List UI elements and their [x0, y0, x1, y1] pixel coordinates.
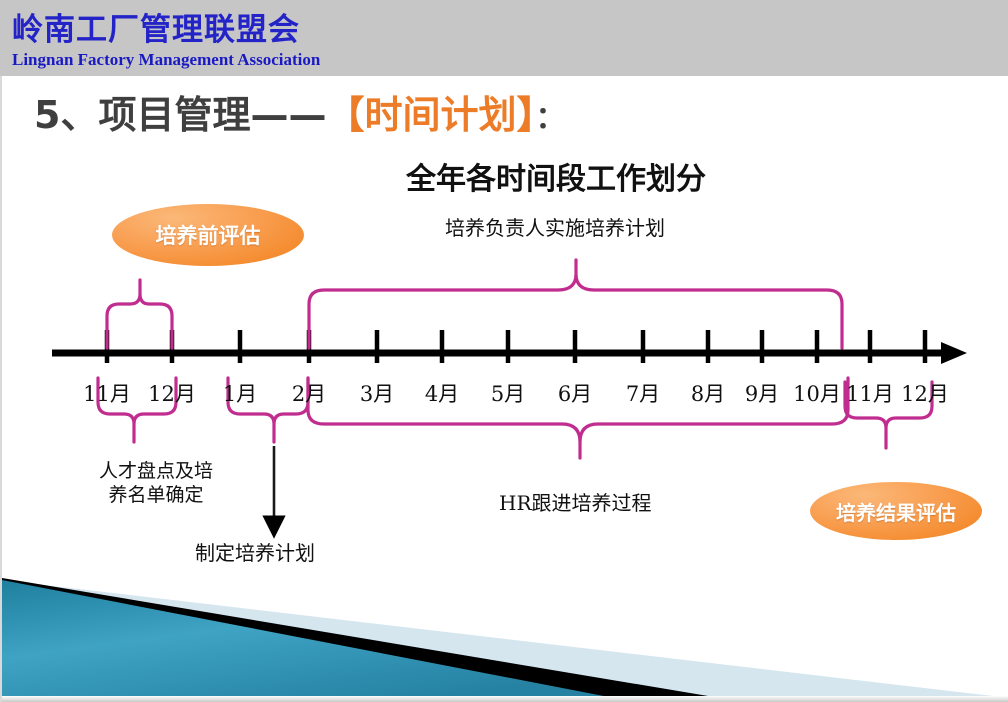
timeline-arrowhead — [941, 342, 967, 364]
label-talent-review-line1: 人才盘点及培 — [99, 460, 213, 482]
month-label-1: 12月 — [148, 378, 196, 408]
month-label-8: 7月 — [626, 378, 660, 408]
page-title: 5、项目管理——【时间计划】： — [34, 96, 565, 134]
callout-post-assessment: 培养结果评估 — [810, 482, 982, 540]
month-label-7: 6月 — [558, 378, 592, 408]
brace-owner-executes — [309, 260, 842, 348]
deco-teal-triangle — [2, 580, 614, 698]
month-label-9: 8月 — [691, 378, 725, 408]
month-label-6: 5月 — [491, 378, 525, 408]
deco-pale-blue-triangle — [2, 580, 1008, 698]
timeline-axis — [52, 342, 967, 364]
title-suffix: ： — [535, 101, 565, 136]
month-label-11: 10月 — [793, 378, 841, 408]
callout-pre-assessment: 培养前评估 — [112, 204, 304, 266]
brace-pre-assessment — [107, 280, 172, 348]
slide-subtitle: 全年各时间段工作划分 — [2, 154, 1008, 198]
label-hr-follow-up: HR跟进培养过程 — [499, 491, 652, 516]
month-label-12: 11月 — [846, 378, 894, 408]
slide-bottom-edge — [2, 696, 1008, 702]
bottom-decoration — [2, 572, 1008, 702]
month-label-3: 2月 — [292, 378, 326, 408]
month-label-5: 4月 — [425, 378, 459, 408]
org-name-english: Lingnan Factory Management Association — [12, 50, 320, 70]
label-owner-executes: 培养负责人实施培养计划 — [445, 216, 665, 241]
slide: 岭南工厂管理联盟会 Lingnan Factory Management Ass… — [0, 0, 1008, 702]
title-highlight: 【时间计划】 — [326, 93, 535, 137]
label-talent-review-line2: 养名单确定 — [108, 484, 203, 506]
month-label-10: 9月 — [745, 378, 779, 408]
month-label-0: 11月 — [83, 378, 131, 408]
org-name-chinese: 岭南工厂管理联盟会 — [12, 4, 300, 49]
slide-canvas: 5、项目管理——【时间计划】： 全年各时间段工作划分 培养前评估 培养结果评估 … — [0, 76, 1008, 702]
label-make-plan: 制定培养计划 — [195, 541, 315, 566]
month-label-4: 3月 — [360, 378, 394, 408]
deco-black-triangle — [2, 578, 720, 698]
header-bar: 岭南工厂管理联盟会 Lingnan Factory Management Ass… — [0, 0, 1008, 76]
label-talent-review: 人才盘点及培 养名单确定 — [76, 460, 236, 508]
month-label-2: 1月 — [223, 378, 257, 408]
month-label-13: 12月 — [901, 378, 949, 408]
title-prefix: 5、项目管理—— — [34, 93, 326, 137]
timeline-ticks — [107, 330, 925, 363]
